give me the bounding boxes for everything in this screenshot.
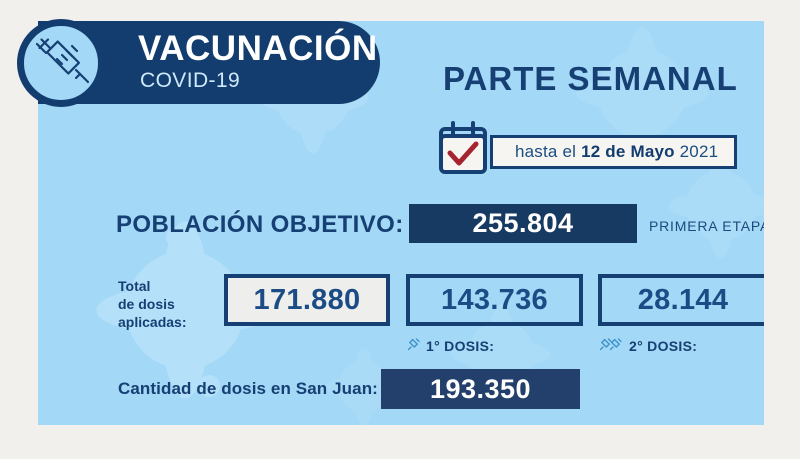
vaccination-logo [17, 19, 105, 107]
first-dose-box: 143.736 [406, 274, 583, 326]
banner-title: VACUNACIÓN [138, 30, 378, 68]
stock-value: 193.350 [430, 374, 531, 405]
total-doses-label-line2: de dosis [118, 295, 186, 313]
second-dose-value: 28.144 [638, 284, 729, 317]
total-doses-value: 171.880 [254, 284, 361, 317]
target-population-note: PRIMERA ETAPA [649, 218, 764, 234]
date-prefix: hasta el [515, 142, 581, 161]
syringe-icon [24, 26, 98, 100]
total-doses-label: Total de dosis aplicadas: [118, 277, 186, 331]
second-dose-box: 28.144 [598, 274, 764, 326]
second-dose-caption-label: 2° DOSIS: [629, 338, 697, 354]
stock-label: Cantidad de dosis en San Juan: [118, 379, 378, 399]
report-date-text: hasta el 12 de Mayo 2021 [515, 142, 718, 162]
syringe-single-icon [406, 337, 421, 355]
target-population-value-box: 255.804 [409, 204, 637, 243]
stock-value-box: 193.350 [381, 369, 580, 409]
total-doses-label-line3: aplicadas: [118, 313, 186, 331]
infographic-poster: VACUNACIÓN COVID-19 PARTE SEMANAL hasta … [0, 0, 800, 459]
calendar-check-icon [438, 121, 496, 175]
report-title: PARTE SEMANAL [443, 60, 738, 98]
date-strong: 12 de Mayo [581, 142, 675, 161]
total-doses-box: 171.880 [224, 274, 390, 326]
date-suffix: 2021 [675, 142, 719, 161]
first-dose-caption-label: 1° DOSIS: [426, 338, 494, 354]
target-population-label: POBLACIÓN OBJETIVO: [116, 211, 404, 239]
content-panel: VACUNACIÓN COVID-19 PARTE SEMANAL hasta … [38, 21, 764, 425]
first-dose-caption: 1° DOSIS: [406, 337, 494, 355]
first-dose-value: 143.736 [441, 284, 548, 317]
total-doses-label-line1: Total [118, 277, 186, 295]
target-population-value: 255.804 [472, 208, 573, 239]
syringe-double-icon [598, 337, 624, 355]
second-dose-caption: 2° DOSIS: [598, 337, 697, 355]
banner-subtitle: COVID-19 [140, 69, 240, 93]
report-date-box: hasta el 12 de Mayo 2021 [490, 135, 737, 169]
